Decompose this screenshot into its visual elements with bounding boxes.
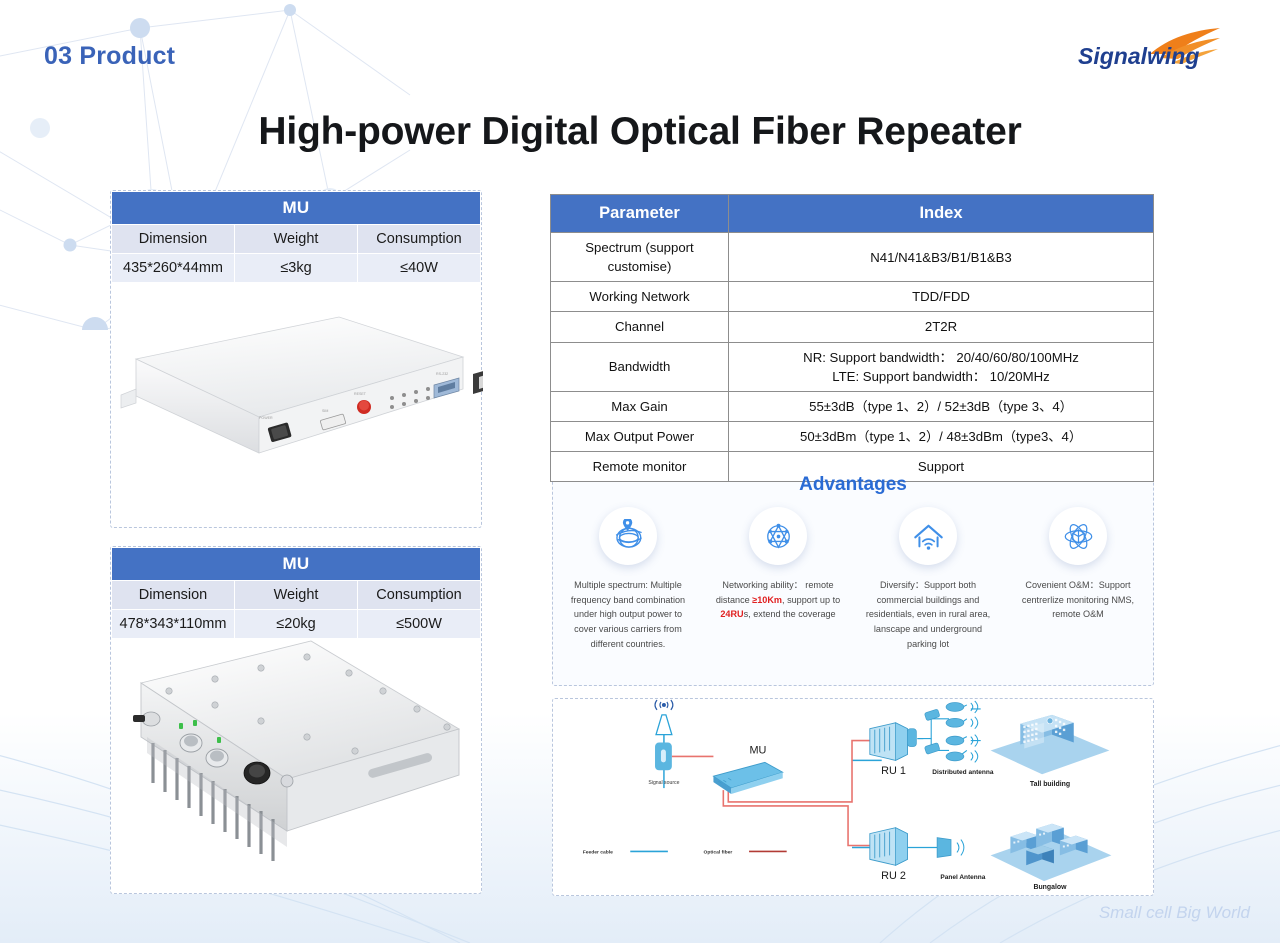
tall-building-label: Tall building: [1030, 781, 1070, 788]
param-row: Max Gain55±3dB（type 1、2）/ 52±3dB（type 3、…: [551, 391, 1154, 421]
ru1-device-icon: [870, 723, 908, 761]
mu2-col-dimension: Dimension: [112, 581, 235, 610]
mu2-col-weight: Weight: [235, 581, 358, 610]
network-topology-diagram: Signal source MU RU 1: [553, 699, 1153, 895]
home-wifi-icon: [899, 507, 957, 565]
svg-text:SIM: SIM: [322, 409, 328, 413]
mu-indoor-panel: MU Dimension Weight Consumption 435*260*…: [110, 190, 482, 528]
mu-table-title-2: MU: [112, 548, 481, 581]
section-label: 03 Product: [44, 42, 175, 71]
advantages-panel: Multiple spectrum: Multiple frequency ba…: [552, 476, 1154, 686]
feeder-cable-lines: [664, 733, 882, 848]
param-name-cell: Working Network: [551, 282, 729, 312]
mu-table-title: MU: [112, 192, 481, 225]
advantage-text: Diversify：Support both commercial buildi…: [862, 578, 994, 652]
advantage-text: Networking ability： remote distance ≥10K…: [712, 578, 844, 622]
param-name-cell: Channel: [551, 312, 729, 342]
mu-label: MU: [750, 744, 767, 756]
ru2-device-icon: [870, 828, 908, 866]
param-header-index: Index: [729, 195, 1154, 233]
topology-legend: Feeder cable Optical fiber: [583, 849, 787, 855]
optical-fiber-lines: [672, 741, 870, 846]
ru1-label: RU 1: [881, 765, 906, 777]
param-row: BandwidthNR: Support bandwidth： 20/40/60…: [551, 342, 1154, 391]
advantage-item-1: Multiple spectrum: Multiple frequency ba…: [553, 507, 703, 652]
param-row: Spectrum (support customise)N41/N41&B3/B…: [551, 233, 1154, 282]
param-name-cell: Spectrum (support customise): [551, 233, 729, 282]
advantage-item-2: Networking ability： remote distance ≥10K…: [703, 507, 853, 652]
svg-text:RESET: RESET: [354, 392, 367, 396]
param-header-parameter: Parameter: [551, 195, 729, 233]
panel-antenna-label: Panel Antenna: [940, 874, 985, 881]
antenna-wave-icons: [971, 701, 978, 762]
param-name-cell: Max Gain: [551, 391, 729, 421]
footer-slogan: Small cell Big World: [1099, 903, 1250, 923]
legend-feeder-label: Feeder cable: [583, 849, 613, 855]
advantage-text: Covenient O&M：Support centrerlize monito…: [1012, 578, 1144, 622]
tall-building-icon: [991, 715, 1110, 774]
signal-source-label: Signal source: [648, 780, 679, 786]
bungalow-label: Bungalow: [1033, 884, 1067, 891]
logo-wordmark: Signalwing: [1078, 43, 1199, 69]
page-title: High-power Digital Optical Fiber Repeate…: [0, 110, 1280, 154]
advantage-item-3: Diversify：Support both commercial buildi…: [853, 507, 1003, 652]
legend-fiber-label: Optical fiber: [704, 849, 733, 855]
mu-spec-table-2: MU Dimension Weight Consumption 478*343*…: [111, 547, 481, 639]
network-nodes-icon: [749, 507, 807, 565]
param-name-cell: Bandwidth: [551, 342, 729, 391]
param-value-cell: TDD/FDD: [729, 282, 1154, 312]
param-value-cell: 55±3dB（type 1、2）/ 52±3dB（type 3、4）: [729, 391, 1154, 421]
param-name-cell: Max Output Power: [551, 421, 729, 451]
mu-indoor-unit-photo: POWER SIM RESET RS-232: [111, 267, 483, 522]
bungalow-icon: [991, 824, 1112, 881]
advantage-item-4: Covenient O&M：Support centrerlize monito…: [1003, 507, 1153, 652]
parameter-index-table: Parameter Index Spectrum (support custom…: [550, 194, 1154, 482]
globe-location-icon: [599, 507, 657, 565]
svg-text:RS-232: RS-232: [436, 372, 448, 376]
atom-cube-icon: [1049, 507, 1107, 565]
param-value-cell: 2T2R: [729, 312, 1154, 342]
mu-device-icon: [713, 762, 782, 794]
mu-col-dimension: Dimension: [112, 225, 235, 254]
mu-outdoor-unit-photo: [111, 633, 483, 888]
mu-col-weight: Weight: [235, 225, 358, 254]
ru2-label: RU 2: [881, 870, 906, 882]
mu2-col-consumption: Consumption: [358, 581, 481, 610]
advantages-title: Advantages: [552, 474, 1154, 496]
param-row: Working NetworkTDD/FDD: [551, 282, 1154, 312]
param-row: Max Output Power50±3dBm（type 1、2）/ 48±3d…: [551, 421, 1154, 451]
param-value-cell: 50±3dBm（type 1、2）/ 48±3dBm（type3、4）: [729, 421, 1154, 451]
mu-outdoor-panel: MU Dimension Weight Consumption 478*343*…: [110, 546, 482, 894]
param-value-cell: NR: Support bandwidth： 20/40/60/80/100MH…: [729, 342, 1154, 391]
network-topology-panel: Signal source MU RU 1: [552, 698, 1154, 896]
mu-col-consumption: Consumption: [358, 225, 481, 254]
param-value-cell: N41/N41&B3/B1/B1&B3: [729, 233, 1154, 282]
svg-text:POWER: POWER: [259, 416, 273, 420]
distributed-antenna-label: Distributed antenna: [932, 769, 994, 776]
advantage-text: Multiple spectrum: Multiple frequency ba…: [562, 578, 694, 652]
param-row: Channel2T2R: [551, 312, 1154, 342]
panel-antenna-icon: [907, 838, 963, 858]
signal-source-antenna-icon: [655, 700, 673, 770]
brand-logo: Signalwing: [1068, 24, 1228, 76]
antenna-nodes: [907, 702, 963, 760]
